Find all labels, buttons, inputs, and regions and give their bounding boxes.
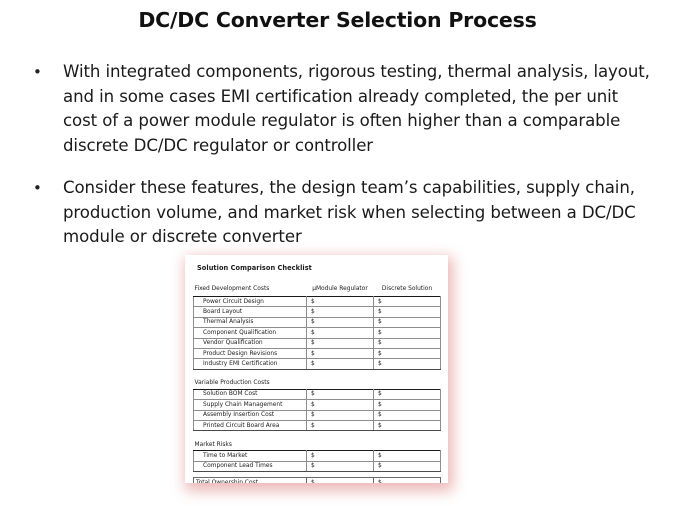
cell-umodule: $ (307, 389, 374, 399)
row-label: Component Lead Times (194, 461, 307, 471)
cell-discrete: $ (374, 348, 441, 358)
bullet-text: Consider these features, the design team… (63, 176, 650, 250)
row-label: Printed Circuit Board Area (194, 420, 307, 430)
cell-discrete: $ (374, 389, 441, 399)
section-heading-row: Variable Production Costs (194, 378, 441, 390)
cell-umodule: $ (307, 410, 374, 420)
table-row: Vendor Qualification $ $ (194, 338, 441, 348)
cell-umodule: $ (307, 420, 374, 430)
table-row: Supply Chain Management $ $ (194, 400, 441, 410)
table-row: Time to Market $ $ (194, 451, 441, 461)
cell-discrete: $ (374, 400, 441, 410)
cell-discrete: $ (374, 297, 441, 307)
table-row: Assembly Insertion Cost $ $ (194, 410, 441, 420)
total-row: Total Ownership Cost $ $ (194, 478, 441, 483)
checklist-image: Solution Comparison Checklist Fixed Deve… (181, 251, 453, 491)
section-heading: Variable Production Costs (194, 378, 441, 390)
cell-discrete: $ (374, 410, 441, 420)
checklist-title: Solution Comparison Checklist (197, 264, 440, 272)
table-row: Product Design Revisions $ $ (194, 348, 441, 358)
row-label: Power Circuit Design (194, 297, 307, 307)
cell-umodule: $ (307, 297, 374, 307)
bullet-point-icon: • (30, 60, 63, 85)
cell-discrete: $ (374, 461, 441, 471)
row-label: Industry EMI Certification (194, 359, 307, 369)
table-row: Component Lead Times $ $ (194, 461, 441, 471)
list-item: • Consider these features, the design te… (30, 176, 650, 250)
row-spacer (194, 369, 441, 378)
row-label: Thermal Analysis (194, 317, 307, 327)
column-header-umodule: µModule Regulator (307, 283, 374, 297)
row-label: Vendor Qualification (194, 338, 307, 348)
table-row: Board Layout $ $ (194, 307, 441, 317)
row-label: Time to Market (194, 451, 307, 461)
bullet-text: With integrated components, rigorous tes… (63, 60, 650, 158)
cell-umodule: $ (307, 400, 374, 410)
bullet-point-icon: • (30, 176, 63, 201)
cell-umodule: $ (307, 461, 374, 471)
total-umodule: $ (307, 478, 374, 483)
row-label: Component Qualification (194, 328, 307, 338)
table-row: Solution BOM Cost $ $ (194, 389, 441, 399)
bullet-list: • With integrated components, rigorous t… (30, 60, 650, 268)
cell-umodule: $ (307, 451, 374, 461)
cell-discrete: $ (374, 307, 441, 317)
cell-umodule: $ (307, 338, 374, 348)
table-row: Component Qualification $ $ (194, 328, 441, 338)
column-header-discrete: Discrete Solution (374, 283, 441, 297)
cell-discrete: $ (374, 328, 441, 338)
row-label: Board Layout (194, 307, 307, 317)
cell-umodule: $ (307, 328, 374, 338)
row-label: Product Design Revisions (194, 348, 307, 358)
cell-discrete: $ (374, 338, 441, 348)
cell-umodule: $ (307, 307, 374, 317)
table-row: Industry EMI Certification $ $ (194, 359, 441, 369)
page-title: DC/DC Converter Selection Process (0, 8, 675, 32)
table-row: Power Circuit Design $ $ (194, 297, 441, 307)
checklist-card: Solution Comparison Checklist Fixed Deve… (185, 255, 448, 483)
table-row: Thermal Analysis $ $ (194, 317, 441, 327)
total-label: Total Ownership Cost (194, 478, 307, 483)
cell-umodule: $ (307, 348, 374, 358)
cell-discrete: $ (374, 317, 441, 327)
column-header-label: Fixed Development Costs (194, 283, 307, 297)
cell-discrete: $ (374, 359, 441, 369)
comparison-table: Fixed Development Costs µModule Regulato… (193, 283, 441, 483)
section-heading: Market Risks (194, 439, 441, 451)
row-spacer (194, 431, 441, 440)
cell-discrete: $ (374, 420, 441, 430)
section-heading-row: Market Risks (194, 439, 441, 451)
row-label: Solution BOM Cost (194, 389, 307, 399)
table-header-row: Fixed Development Costs µModule Regulato… (194, 283, 441, 297)
table-row: Printed Circuit Board Area $ $ (194, 420, 441, 430)
list-item: • With integrated components, rigorous t… (30, 60, 650, 158)
cell-umodule: $ (307, 359, 374, 369)
cell-umodule: $ (307, 317, 374, 327)
row-label: Supply Chain Management (194, 400, 307, 410)
total-discrete: $ (374, 478, 441, 483)
row-label: Assembly Insertion Cost (194, 410, 307, 420)
cell-discrete: $ (374, 451, 441, 461)
